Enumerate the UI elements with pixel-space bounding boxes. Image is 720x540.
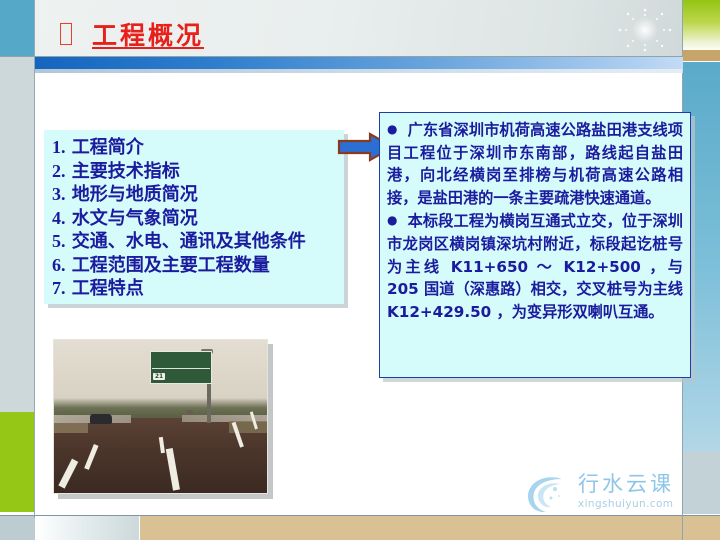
bottom-gradient-block (36, 516, 139, 540)
list-item-number: 2. (52, 161, 66, 181)
outline-box: 1. 工程简介 2. 主要技术指标 3. 地形与地质简况 4. 水文与气象简况 … (44, 130, 344, 304)
list-item[interactable]: 6. 工程范围及主要工程数量 (44, 254, 344, 278)
photo-sign-lower-panel: 21 (151, 370, 211, 384)
list-item-label: 水文与气象简况 (72, 208, 198, 229)
title-accent-bar-shadow (35, 69, 683, 73)
title-accent-bar (35, 57, 683, 69)
list-item-label: 工程简介 (72, 137, 144, 158)
list-item-label: 工程范围及主要工程数量 (72, 255, 270, 276)
list-item-number: 6. (52, 255, 66, 275)
list-item-label: 主要技术指标 (72, 161, 180, 182)
detail-paragraph: ●广东省深圳市机荷高速公路盐田港支线项目工程位于深圳市东南部，路线起自盐田港，向… (387, 118, 683, 209)
title-bullet-icon (60, 23, 72, 45)
list-item-number: 4. (52, 208, 66, 228)
bottom-tan-bar (140, 516, 720, 540)
photo-sign-upper-panel (152, 353, 210, 369)
list-item-label: 交通、水电、通讯及其他条件 (72, 231, 306, 252)
detail-paragraph-text: 本标段工程为横岗互通式立交，位于深圳市龙岗区横岗镇深坑村附近，标段起讫桩号为主线… (387, 212, 683, 320)
left-green-block (0, 412, 35, 512)
list-item-label: 工程特点 (72, 278, 144, 299)
right-green-block (682, 0, 720, 50)
photo-vehicle (90, 414, 112, 424)
highway-photo: 21 (53, 339, 268, 494)
list-item-number: 1. (52, 137, 66, 157)
list-item[interactable]: 2. 主要技术指标 (44, 160, 344, 184)
list-item-number: 5. (52, 231, 66, 251)
photo-overhead-sign: 21 (150, 351, 212, 385)
wave-logo-icon (522, 467, 572, 517)
detail-box: ●广东省深圳市机荷高速公路盐田港支线项目工程位于深圳市东南部，路线起自盐田港，向… (379, 112, 691, 378)
watermark-brand-url: xingshuiyun.com (578, 499, 674, 510)
list-item-label: 地形与地质简况 (72, 184, 198, 205)
detail-paragraph-text: 广东省深圳市机荷高速公路盐田港支线项目工程位于深圳市东南部，路线起自盐田港，向北… (387, 121, 683, 207)
photo-sign-number: 21 (153, 373, 165, 380)
list-item-number: 3. (52, 184, 66, 204)
left-bottom-block (0, 516, 35, 540)
detail-bullet-icon: ● (387, 122, 398, 136)
detail-paragraph: ●本标段工程为横岗互通式立交，位于深圳市龙岗区横岗镇深坑村附近，标段起讫桩号为主… (387, 209, 683, 323)
list-item[interactable]: 7. 工程特点 (44, 277, 344, 301)
page-title-text: 工程概况 (92, 16, 204, 52)
list-item[interactable]: 5. 交通、水电、通讯及其他条件 (44, 230, 344, 254)
right-tan-block (682, 50, 720, 61)
list-item[interactable]: 1. 工程简介 (44, 136, 344, 160)
watermark-brand-cn: 行水云课 (578, 474, 674, 495)
list-item[interactable]: 4. 水文与气象简况 (44, 207, 344, 231)
list-item[interactable]: 3. 地形与地质简况 (44, 183, 344, 207)
top-left-color-block (0, 0, 35, 56)
list-item-number: 7. (52, 278, 66, 298)
outline-list: 1. 工程简介 2. 主要技术指标 3. 地形与地质简况 4. 水文与气象简况 … (44, 136, 344, 301)
slide-canvas: 工程概况 1. 工程简介 2. 主要技术指标 3. 地形与地质简况 4. 水文与… (0, 0, 720, 540)
watermark-text: 行水云课 xingshuiyun.com (578, 474, 674, 510)
detail-bullet-icon: ● (387, 213, 398, 227)
photo-shoulder-left (54, 423, 88, 434)
page-title: 工程概况 (60, 16, 204, 52)
left-strip-divider (34, 0, 35, 518)
watermark: 行水云课 xingshuiyun.com (522, 466, 694, 518)
